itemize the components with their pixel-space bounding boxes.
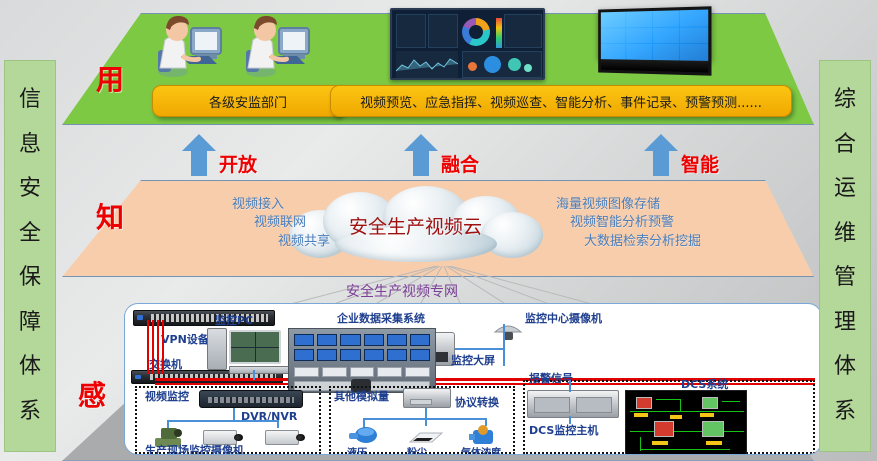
arrow-up-open-icon	[182, 134, 216, 176]
arrow-up-smart-icon	[644, 134, 678, 176]
label-sensor-hydraulic: 液压	[347, 444, 367, 455]
arrow-up-merge-icon	[404, 134, 438, 176]
operator-at-computer-icon	[155, 10, 233, 82]
heatmap-legend-icon	[496, 18, 502, 48]
video-wall-display	[598, 6, 711, 75]
gas-sensor-icon	[467, 424, 499, 446]
dcs-process-schematic	[625, 390, 747, 455]
banner-right-char-1: 合	[834, 134, 856, 156]
banner-information-security: 信 息 安 全 保 障 体 系	[4, 60, 56, 452]
sparkline-chart-icon	[396, 51, 458, 78]
video-wall-screen-grid	[598, 6, 711, 61]
wire-blue	[425, 408, 427, 418]
protocol-converter-icon	[403, 388, 451, 408]
layer-caption-know: 知	[96, 196, 124, 236]
wire-blue	[167, 420, 279, 422]
cloud-capabilities-left: 视频接入 视频联网 视频共享	[126, 196, 284, 251]
arrow-label-open: 开放	[219, 150, 257, 177]
label-big-screen: 监控大屏	[451, 352, 495, 368]
hydraulic-sensor-icon	[347, 426, 381, 446]
label-sensor-gas: 气体浓度	[461, 444, 501, 455]
wire-red	[157, 320, 159, 374]
layer-caption-sense: 感	[78, 374, 106, 414]
banner-operations-management: 综 合 运 维 管 理 体 系	[819, 60, 871, 452]
label-site-cameras: 生产现场监控摄像机	[145, 442, 244, 455]
pill-safety-departments[interactable]: 各级安监部门	[152, 85, 344, 117]
wire-blue	[569, 380, 571, 392]
label-data-collection: 企业数据采集系统	[337, 310, 425, 326]
cloud-capabilities-right: 海量视频图像存储 视频智能分析预警 大数据检索分析挖掘	[556, 196, 771, 251]
arrow-label-smart: 智能	[681, 150, 719, 177]
banner-left-char-7: 系	[19, 401, 41, 423]
analytics-dashboard-screen	[390, 8, 545, 80]
wire-blue	[253, 370, 255, 380]
dvr-nvr-icon	[199, 390, 303, 408]
bullet-camera-icon	[265, 430, 299, 445]
wire-red	[147, 320, 149, 374]
label-sensor-dust: 粉尘	[407, 444, 427, 455]
wire-blue	[277, 420, 279, 428]
dome-camera-icon	[493, 322, 523, 348]
banner-right-char-2: 运	[834, 178, 856, 200]
architecture-diagram: 信 息 安 全 保 障 体 系 综 合 运 维 管 理 体 系 用 知 感	[0, 0, 877, 461]
device-infrastructure-panel: VPN设备 交换机 监控PC 企业数据采集系统	[124, 303, 822, 455]
banner-right-char-6: 体	[834, 356, 856, 378]
keyboard-icon	[229, 366, 291, 374]
label-protocol-converter: 协议转换	[455, 394, 499, 410]
pill-application-functions[interactable]: 视频预览、应急指挥、视频巡查、智能分析、事件记录、预警预测......	[330, 85, 792, 117]
zone-video-title: 视频监控	[145, 388, 189, 404]
donut-chart-icon	[462, 18, 490, 46]
cloud-right-item-1: 视频智能分析预警	[570, 214, 771, 232]
banner-left-char-1: 息	[19, 134, 41, 156]
desktop-tower-icon	[207, 328, 227, 370]
arrow-label-merge: 融合	[441, 150, 479, 177]
wire-blue	[503, 324, 505, 366]
banner-left-char-0: 信	[19, 89, 41, 111]
layer-caption-use: 用	[96, 58, 124, 98]
cloud-left-item-1: 视频联网	[126, 214, 306, 232]
wire-red	[152, 320, 154, 374]
monitor-screen-icon	[229, 330, 281, 364]
wire-red	[162, 320, 164, 374]
private-network-label: 安全生产视频专网	[346, 281, 458, 301]
banner-right-char-5: 理	[834, 312, 856, 334]
wire-blue	[455, 348, 503, 350]
banner-left-char-3: 全	[19, 223, 41, 245]
cloud-right-item-0: 海量视频图像存储	[556, 196, 771, 214]
control-room-big-screen-icon	[288, 328, 436, 393]
banner-left-char-6: 体	[19, 356, 41, 378]
wire-blue	[425, 418, 427, 426]
banner-right-char-4: 管	[834, 267, 856, 289]
cloud-right-item-2: 大数据检索分析挖掘	[584, 233, 771, 251]
label-vpn-device: VPN设备	[161, 331, 209, 347]
vpn-appliance-icon	[133, 310, 275, 326]
cloud-left-item-0: 视频接入	[126, 196, 284, 214]
banner-left-char-5: 障	[19, 312, 41, 334]
cloud-left-item-2: 视频共享	[126, 233, 330, 251]
banner-left-char-4: 保	[19, 267, 41, 289]
label-center-camera: 监控中心摄像机	[525, 310, 602, 326]
label-monitor-pc: 监控PC	[215, 312, 253, 328]
banner-right-char-3: 维	[834, 223, 856, 245]
banner-left-char-2: 安	[19, 178, 41, 200]
zone-analog-title: 其他模拟量	[334, 388, 389, 404]
wire-blue	[233, 408, 235, 420]
operator-at-computer-icon	[243, 10, 321, 82]
label-dcs-host: DCS监控主机	[529, 422, 598, 438]
wire-blue	[569, 416, 571, 424]
banner-right-char-0: 综	[834, 89, 856, 111]
dcs-host-icon	[527, 390, 619, 418]
zone-dcs-title: 报警信号	[529, 370, 573, 386]
banner-right-char-7: 系	[834, 401, 856, 423]
